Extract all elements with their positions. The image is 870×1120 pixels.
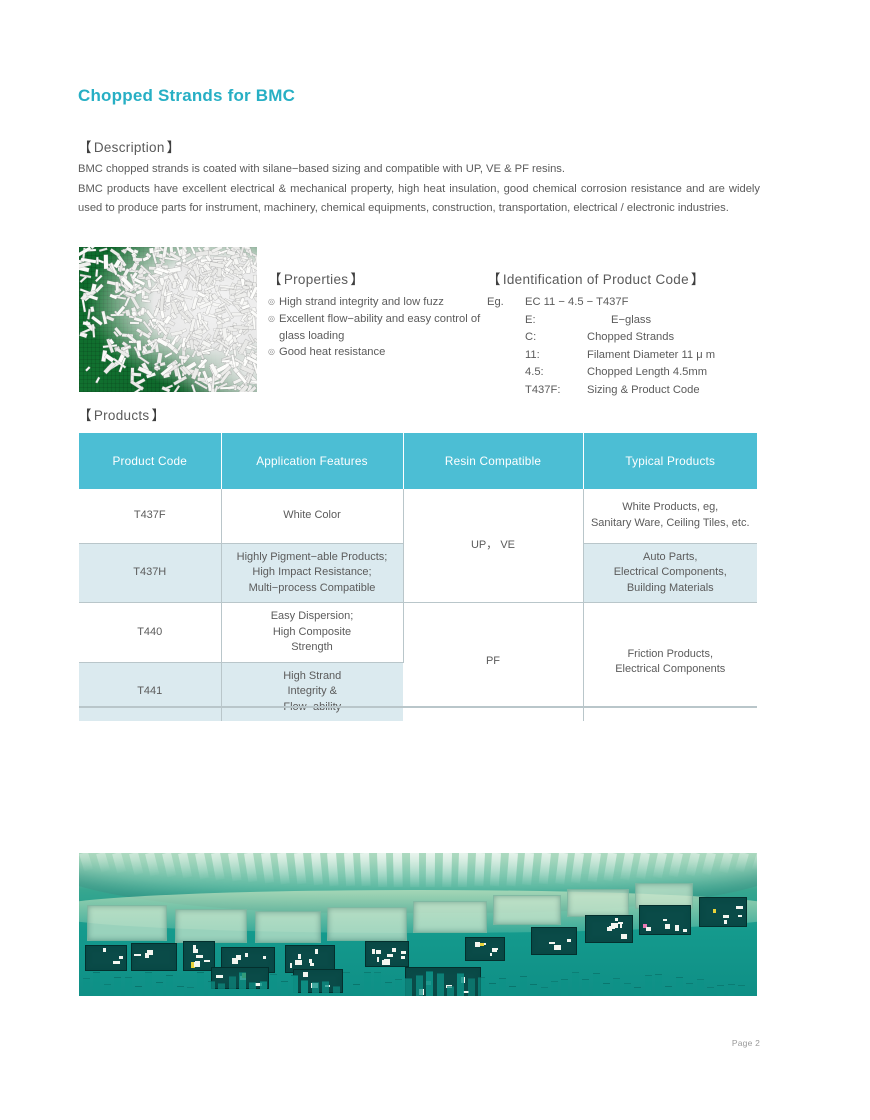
table-header-row: Product Code Application Features Resin … — [79, 433, 757, 489]
identification-heading: 【Identification of Product Code】 — [487, 268, 777, 288]
list-item: ◎ Good heat resistance — [268, 344, 483, 361]
cell-application-features: Easy Dispersion; High Composite Strength — [221, 603, 403, 663]
products-table: Product Code Application Features Resin … — [79, 433, 757, 721]
cell-product-code: T437F — [79, 489, 221, 543]
code-value: Chopped Length 4.5mm — [587, 364, 777, 382]
table-row: T437F White Color UP， VE White Products,… — [79, 489, 757, 543]
description-line-1: BMC chopped strands is coated with silan… — [78, 160, 760, 180]
bracket-open: 【 — [268, 272, 282, 287]
cell-application-features: White Color — [221, 489, 403, 543]
spacer — [487, 312, 525, 330]
list-item: ◎ Excellent flow−ability and easy contro… — [268, 311, 483, 345]
bracket-open: 【 — [487, 272, 501, 287]
products-heading-label: Products — [92, 408, 152, 423]
example-code: EC 11 − 4.5 − T437F — [525, 294, 777, 312]
code-key: 11: — [525, 347, 587, 365]
cell-product-code: T440 — [79, 603, 221, 663]
cell-application-features: Highly Pigment−able Products; High Impac… — [221, 543, 403, 603]
identification-row: 4.5: Chopped Length 4.5mm — [487, 364, 777, 382]
chopped-strands-photo — [79, 247, 257, 392]
description-heading-label: Description — [92, 140, 167, 155]
properties-heading-label: Properties — [282, 272, 351, 287]
code-value: Filament Diameter 11 μ m — [587, 347, 777, 365]
code-value: E−glass — [587, 312, 777, 330]
identification-row: 11: Filament Diameter 11 μ m — [487, 347, 777, 365]
description-heading: 【Description】 — [78, 136, 180, 156]
identification-example-row: Eg. EC 11 − 4.5 − T437F — [487, 294, 777, 312]
cell-product-code: T437H — [79, 543, 221, 603]
list-item: ◎ High strand integrity and low fuzz — [268, 294, 483, 311]
bracket-close: 】 — [167, 140, 181, 155]
bracket-open: 【 — [78, 408, 92, 423]
column-header-resin-compatible: Resin Compatible — [403, 433, 583, 489]
strand-flakes — [79, 247, 257, 392]
column-header-product-code: Product Code — [79, 433, 221, 489]
identification-row: C: Chopped Strands — [487, 329, 777, 347]
spacer — [487, 347, 525, 365]
column-header-application-features: Application Features — [221, 433, 403, 489]
identification-block: 【Identification of Product Code】 Eg. EC … — [487, 268, 777, 399]
cell-typical-products: Friction Products, Electrical Components — [583, 603, 757, 722]
page-title: Chopped Strands for BMC — [78, 86, 295, 106]
description-line-2: BMC products have excellent electrical &… — [78, 183, 760, 215]
cell-typical-products: Auto Parts, Electrical Components, Build… — [583, 543, 757, 603]
cell-typical-products: White Products, eg, Sanitary Ware, Ceili… — [583, 489, 757, 543]
column-header-typical-products: Typical Products — [583, 433, 757, 489]
code-key: 4.5: — [525, 364, 587, 382]
code-key: T437F: — [525, 382, 587, 400]
spacer — [487, 364, 525, 382]
control-room-banner-photo — [79, 853, 757, 996]
page-number: Page 2 — [732, 1038, 760, 1048]
identification-row: T437F: Sizing & Product Code — [487, 382, 777, 400]
property-label: High strand integrity and low fuzz — [279, 294, 483, 311]
spacer — [487, 382, 525, 400]
cell-product-code: T441 — [79, 662, 221, 721]
bracket-close: 】 — [691, 272, 705, 287]
description-text: BMC chopped strands is coated with silan… — [78, 160, 760, 219]
table-row: T440 Easy Dispersion; High Composite Str… — [79, 603, 757, 663]
code-value: Chopped Strands — [587, 329, 777, 347]
bracket-open: 【 — [78, 140, 92, 155]
table-bottom-rule — [79, 706, 757, 708]
property-label: Good heat resistance — [279, 344, 483, 361]
bullet-circle-icon: ◎ — [268, 348, 279, 356]
identification-heading-label: Identification of Product Code — [501, 272, 691, 287]
bracket-close: 】 — [350, 272, 364, 287]
code-key: C: — [525, 329, 587, 347]
bracket-close: 】 — [152, 408, 166, 423]
products-heading: 【Products】 — [78, 404, 165, 424]
bullet-circle-icon: ◎ — [268, 298, 279, 306]
example-label: Eg. — [487, 294, 525, 312]
properties-block: 【Properties】 ◎ High strand integrity and… — [268, 268, 483, 361]
code-value: Sizing & Product Code — [587, 382, 777, 400]
code-key: E: — [525, 312, 587, 330]
spacer — [487, 329, 525, 347]
bullet-circle-icon: ◎ — [268, 315, 279, 323]
properties-heading: 【Properties】 — [268, 268, 483, 288]
cell-application-features: High Strand Integrity & Flow−ability — [221, 662, 403, 721]
cell-resin-compatible: UP， VE — [403, 489, 583, 603]
property-label: Excellent flow−ability and easy control … — [279, 311, 483, 345]
cell-resin-compatible: PF — [403, 603, 583, 722]
identification-row: E: E−glass — [487, 312, 777, 330]
